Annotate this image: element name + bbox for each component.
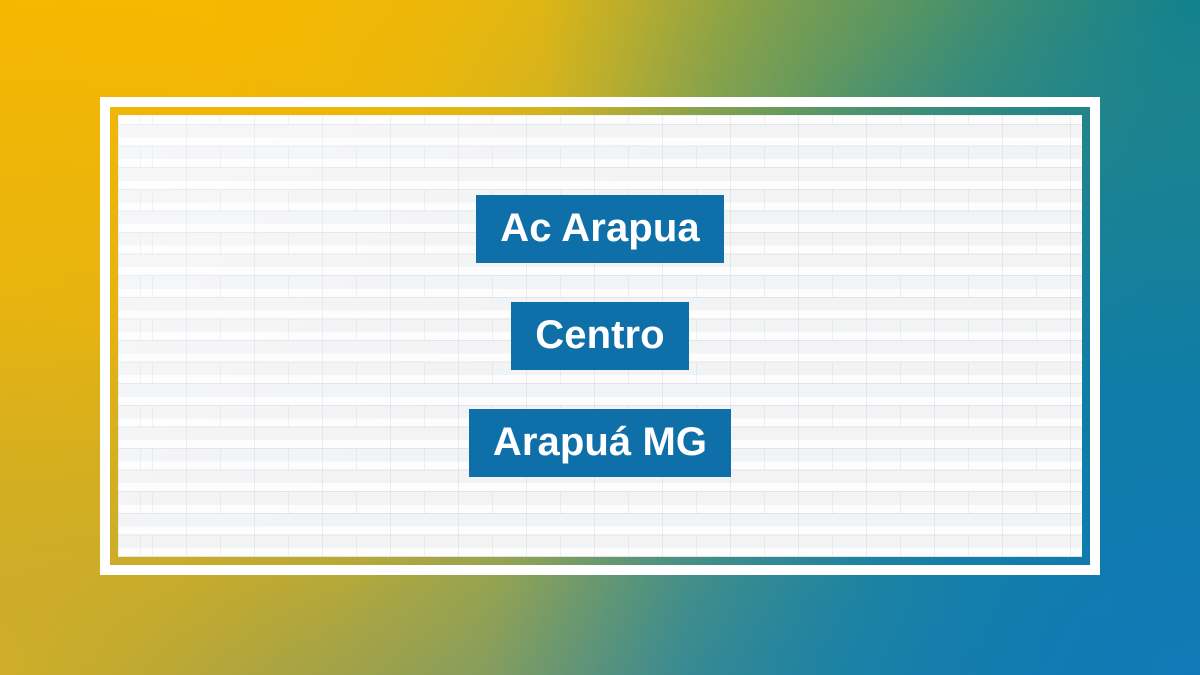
framed-card: Ac Arapua Centro Arapuá MG bbox=[100, 97, 1100, 575]
badge-district: Centro bbox=[511, 302, 689, 370]
label-stack: Ac Arapua Centro Arapuá MG bbox=[469, 195, 731, 477]
brick-panel: Ac Arapua Centro Arapuá MG bbox=[118, 115, 1082, 557]
badge-title: Ac Arapua bbox=[476, 195, 723, 263]
poster-canvas: Ac Arapua Centro Arapuá MG bbox=[0, 0, 1200, 675]
badge-city-state: Arapuá MG bbox=[469, 409, 731, 477]
